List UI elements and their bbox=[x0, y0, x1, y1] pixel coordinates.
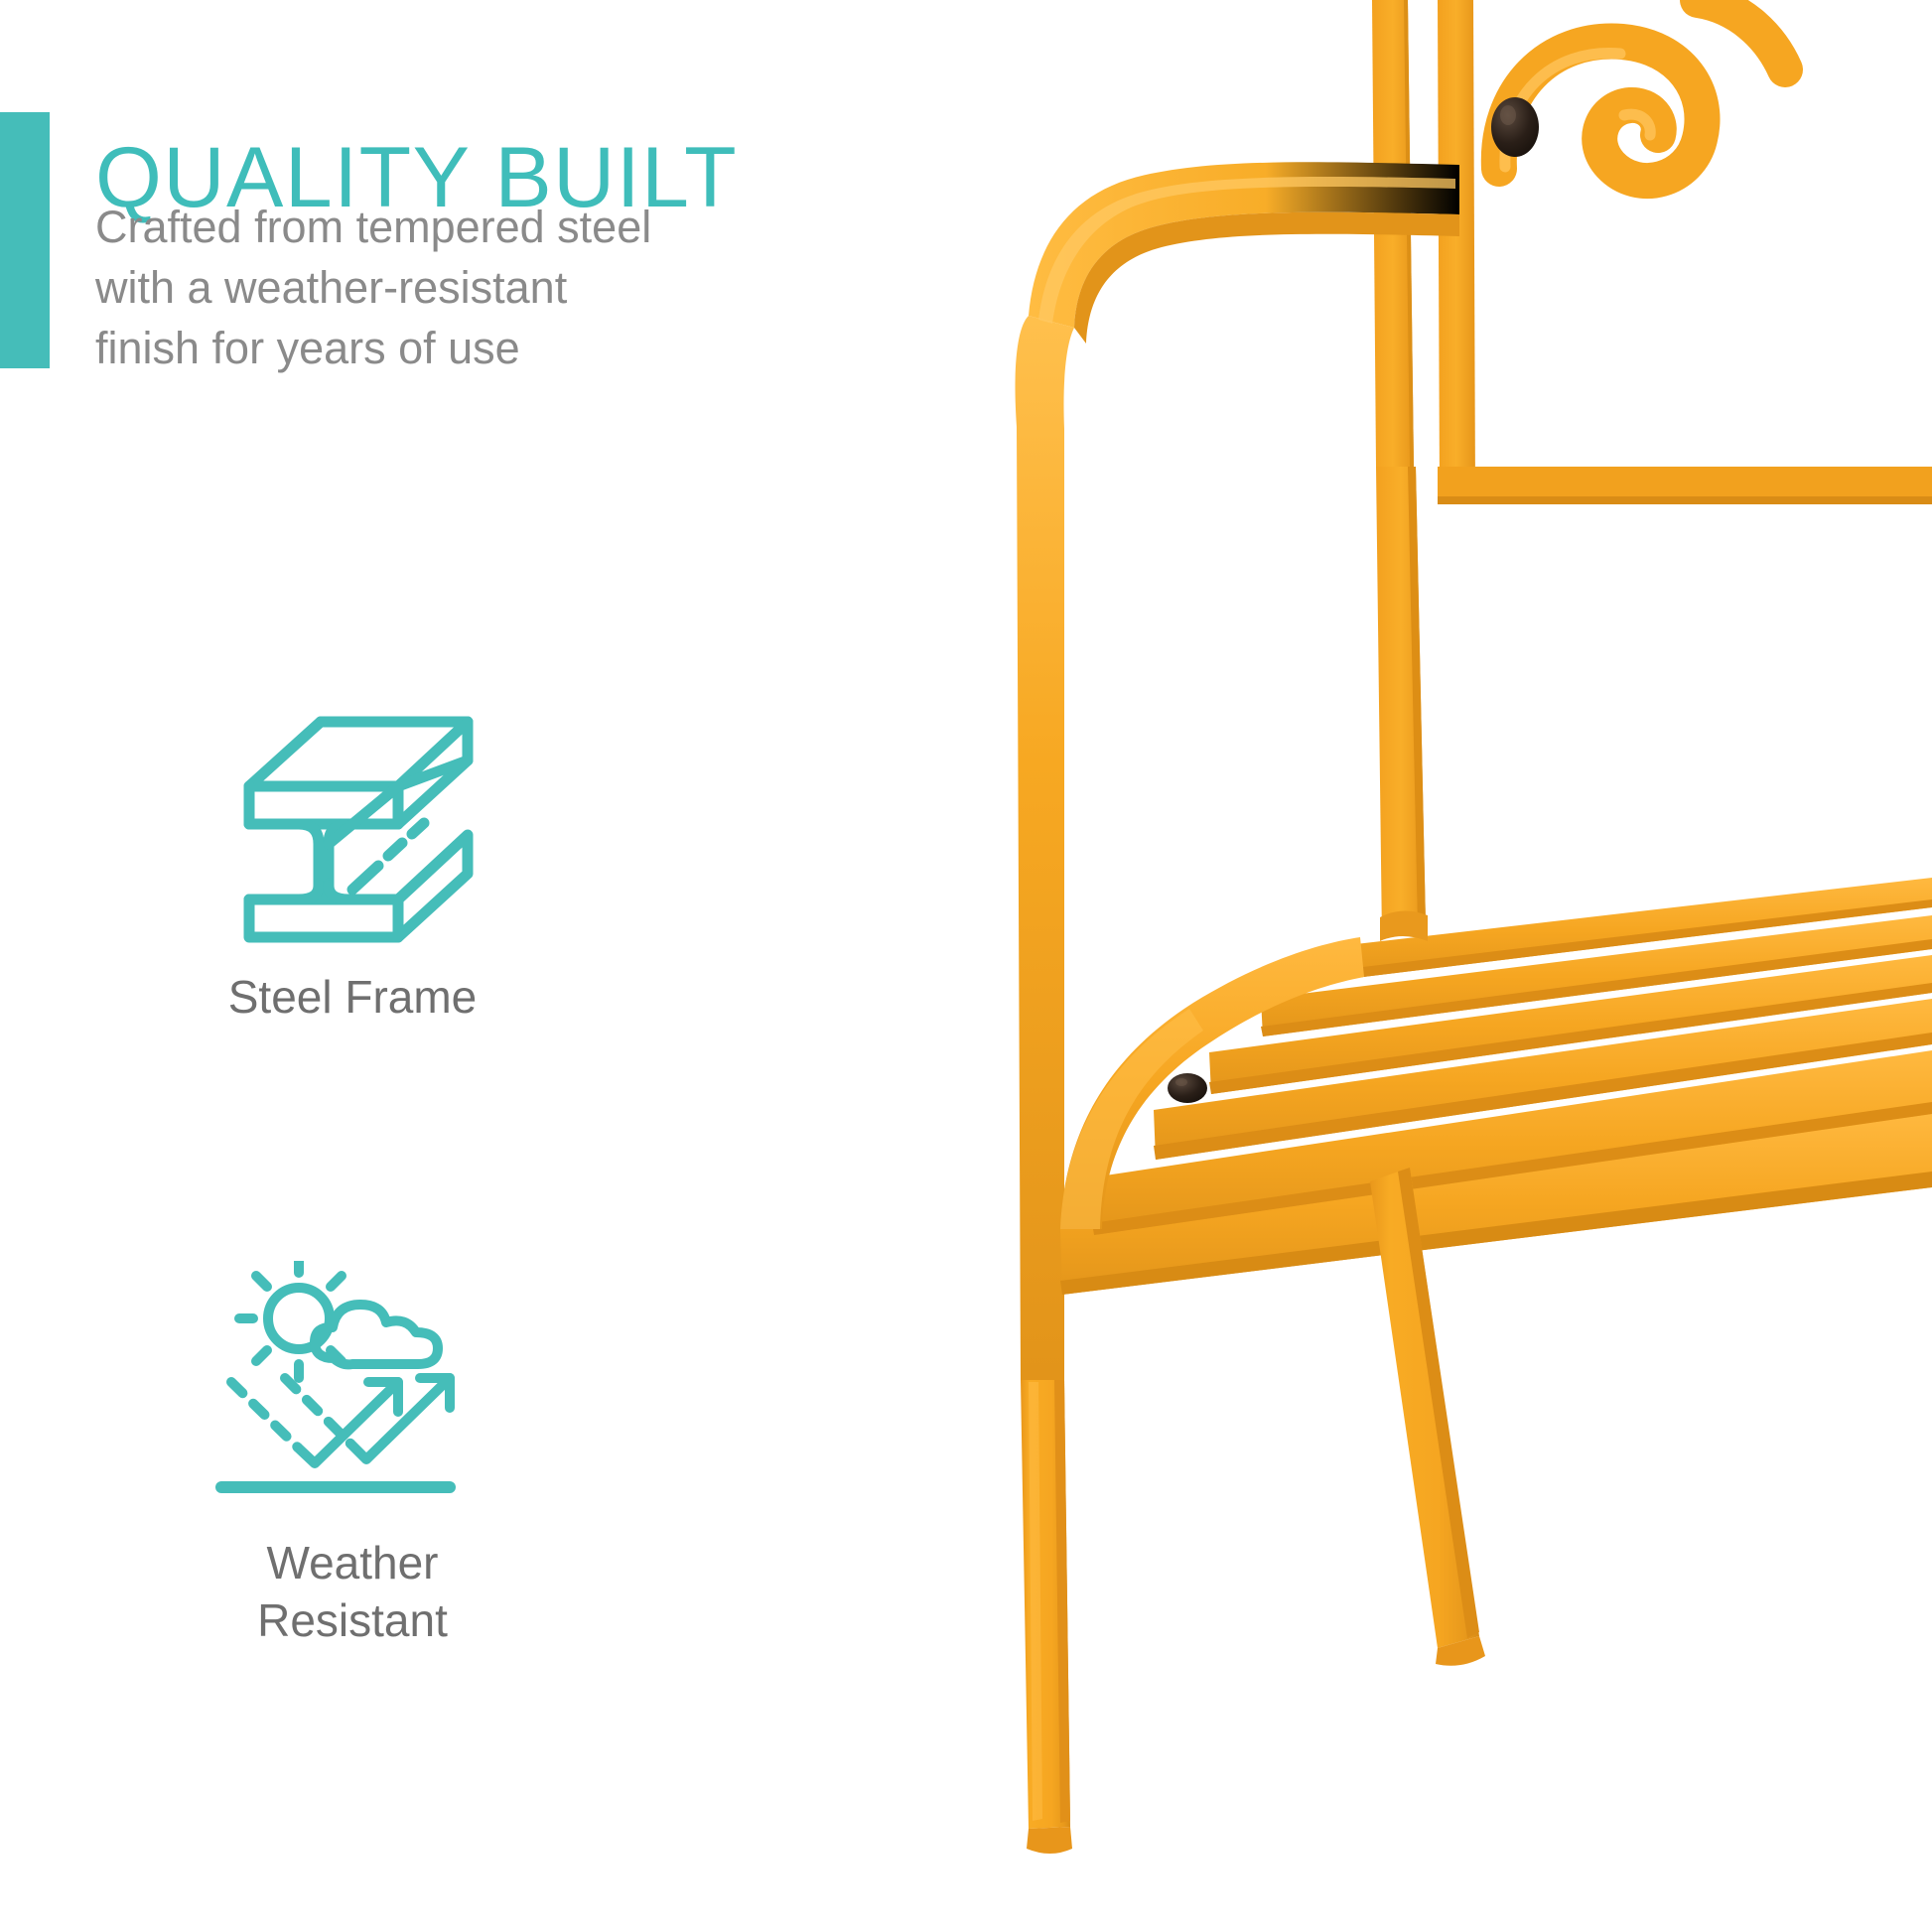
feature-label-line: Steel Frame bbox=[74, 969, 630, 1027]
bolt-cap-seat bbox=[1168, 1073, 1207, 1103]
product-photo bbox=[943, 0, 1932, 1932]
bolt-cap bbox=[1491, 97, 1539, 157]
backrest-scroll-ornament bbox=[1499, 0, 1785, 181]
yellow-metal-bench-illustration bbox=[943, 0, 1932, 1932]
feature-steel-frame-label: Steel Frame bbox=[74, 969, 630, 1027]
feature-weather-resistant-label: Weather Resistant bbox=[74, 1535, 630, 1649]
subhead-line-1: Crafted from tempered steel bbox=[95, 197, 790, 257]
accent-bar bbox=[0, 112, 50, 368]
weather-resistant-icon bbox=[74, 1261, 630, 1509]
subhead-line-3: finish for years of use bbox=[95, 318, 790, 378]
feature-label-line: Weather bbox=[74, 1535, 630, 1592]
feature-steel-frame: Steel Frame bbox=[74, 695, 630, 1027]
feature-weather-resistant: Weather Resistant bbox=[74, 1261, 630, 1649]
feature-label-line: Resistant bbox=[74, 1592, 630, 1650]
front-leg bbox=[1021, 1380, 1072, 1854]
subhead-text: Crafted from tempered steel with a weath… bbox=[95, 197, 790, 379]
steel-i-beam-icon bbox=[74, 695, 630, 943]
subhead-line-2: with a weather-resistant bbox=[95, 257, 790, 318]
seat-back-upright bbox=[1376, 467, 1428, 941]
